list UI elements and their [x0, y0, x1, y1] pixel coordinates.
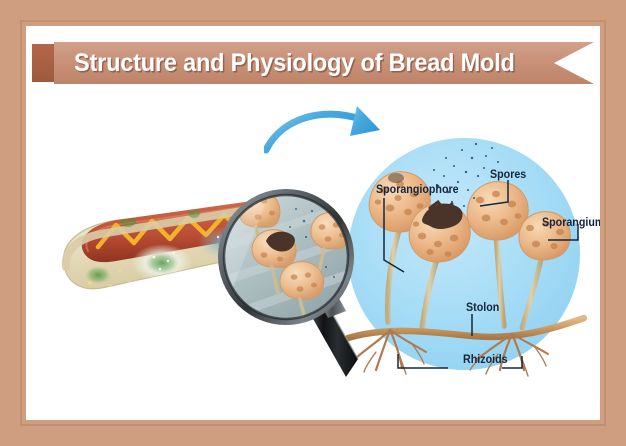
mold-spot-a [120, 215, 136, 227]
illustration-canvas: Structure and Physiology of Bread Mold [26, 26, 600, 420]
sporangium-1-dark-cap [388, 173, 404, 183]
sporangium-3-capsule [467, 182, 528, 240]
title-banner: Structure and Physiology of Bread Mold [32, 42, 594, 84]
label-sporangium: Sporangium [542, 217, 600, 229]
label-sporangiophore: Sporangiophore [376, 184, 459, 196]
sporangium-3 [467, 182, 528, 240]
label-stolon: Stolon [466, 302, 499, 314]
lens-sporangium-4 [280, 262, 324, 299]
mold-patch-green-2 [85, 266, 111, 284]
infographic-root: Structure and Physiology of Bread Mold [0, 0, 626, 446]
magnifying-glass [208, 181, 388, 396]
label-rhizoids: Rhizoids [463, 354, 508, 366]
banner-swallowtail-notch [554, 42, 594, 84]
banner-left-tab [32, 44, 54, 82]
label-spores: Spores [490, 169, 526, 181]
page-title: Structure and Physiology of Bread Mold [74, 42, 515, 84]
mold-patch-green [145, 252, 179, 274]
